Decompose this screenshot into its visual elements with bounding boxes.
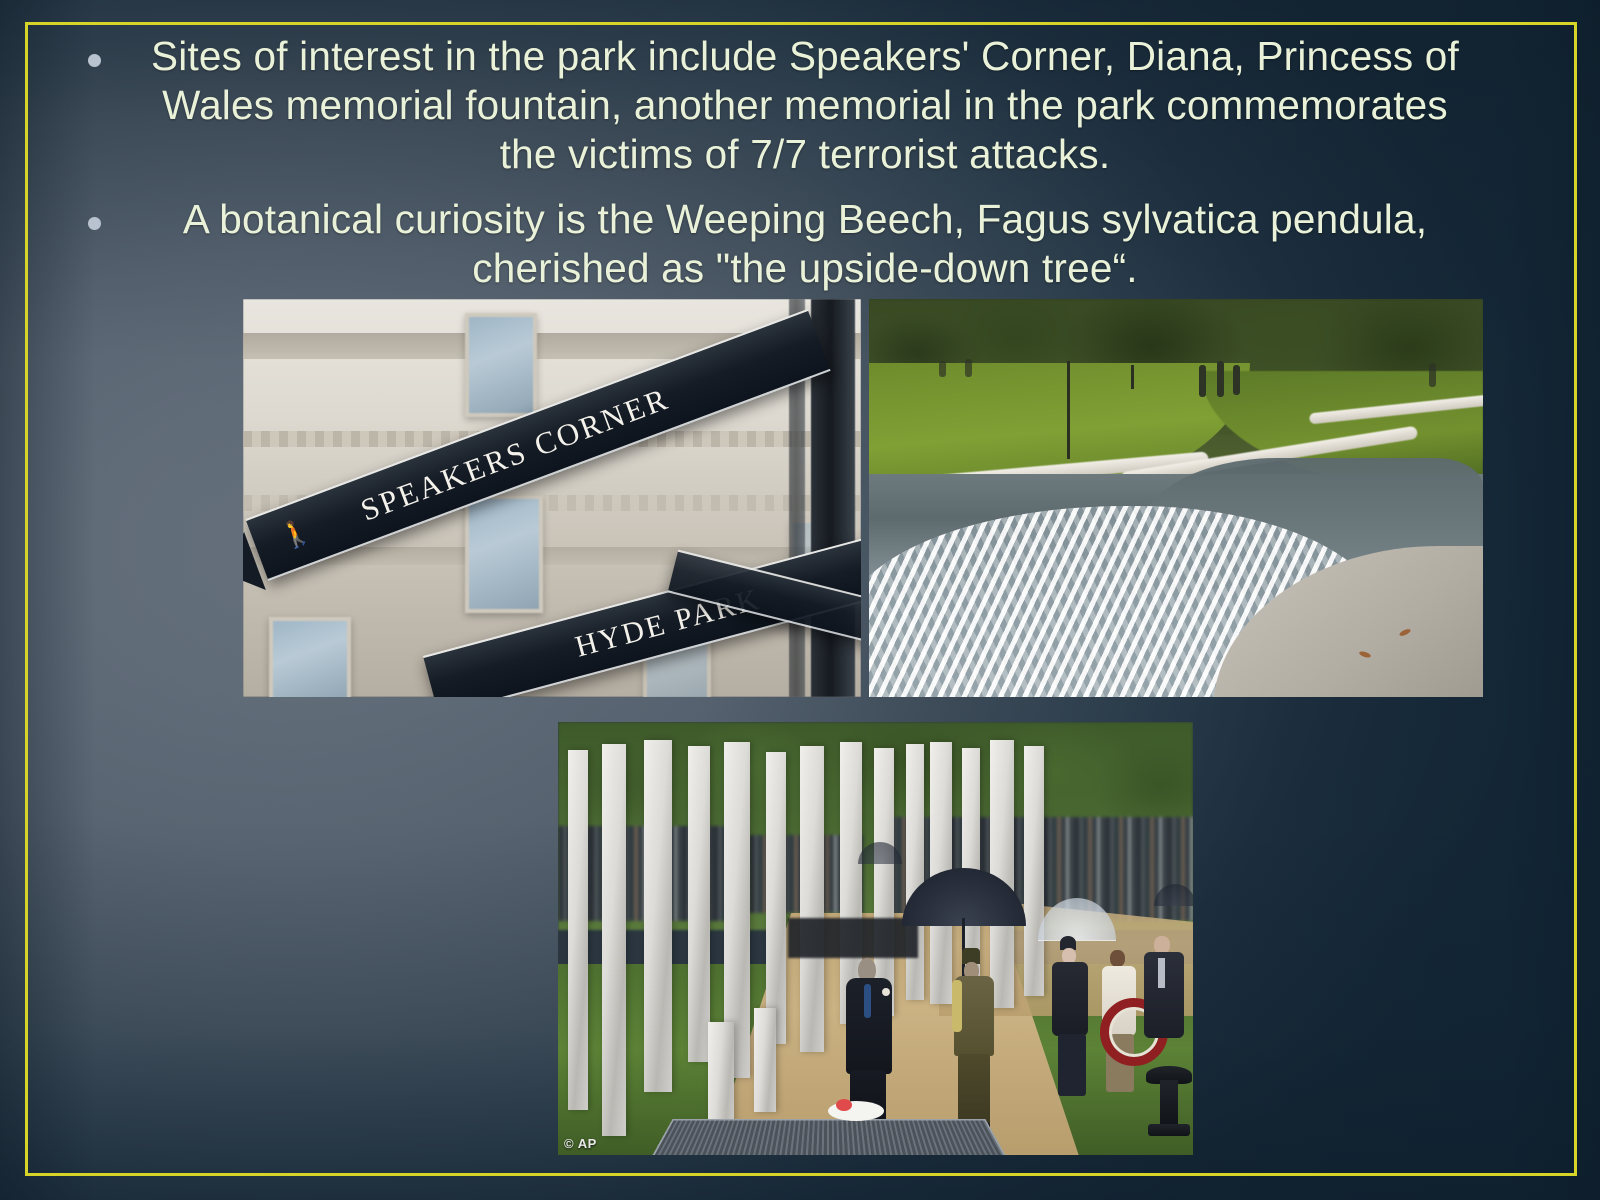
bullet-marker-icon (88, 32, 132, 72)
bullet-item: Sites of interest in the park include Sp… (88, 32, 1478, 179)
bullet-text-1: Sites of interest in the park include Sp… (132, 32, 1478, 179)
bullet-text-2: A botanical curiosity is the Weeping Bee… (132, 195, 1478, 293)
image-diana-memorial-fountain (869, 299, 1483, 697)
slide-body-text: Sites of interest in the park include Sp… (88, 32, 1478, 309)
presentation-slide: Sites of interest in the park include Sp… (0, 0, 1600, 1200)
bullet-item: A botanical curiosity is the Weeping Bee… (88, 195, 1478, 293)
memorial-plaque (650, 1119, 1008, 1155)
image-speakers-corner-signpost: SPEAKERS CORNER 🚶 HYDE PARK (243, 299, 861, 697)
pedestrian-icon: 🚶 (276, 516, 315, 552)
image-credit-ap: © AP (564, 1136, 597, 1151)
bullet-marker-icon (88, 195, 132, 235)
image-july-seven-memorial: © AP (558, 722, 1193, 1155)
